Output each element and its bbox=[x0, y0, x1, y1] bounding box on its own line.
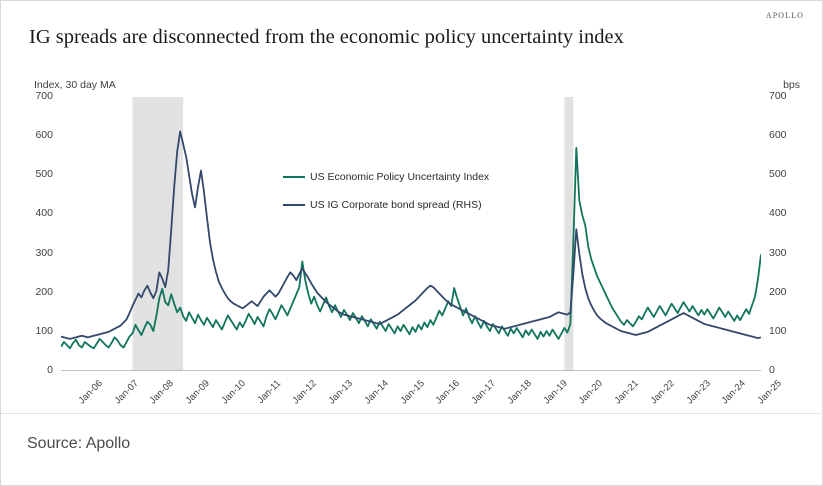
chart-legend: US Economic Policy Uncertainty Index US … bbox=[283, 171, 489, 227]
plot-area bbox=[61, 97, 761, 371]
x-tick-label: Jan-15 bbox=[398, 378, 426, 406]
x-tick-label: Jan-10 bbox=[219, 378, 247, 406]
apollo-logo: APOLLO bbox=[766, 11, 804, 20]
y-tick-label-right: 600 bbox=[769, 129, 803, 141]
y-tick-label-left: 700 bbox=[19, 90, 53, 102]
legend-swatch-ig-spread bbox=[283, 204, 305, 207]
recession-band bbox=[132, 97, 183, 371]
x-tick-label: Jan-24 bbox=[720, 378, 748, 406]
legend-item-epu: US Economic Policy Uncertainty Index bbox=[283, 171, 489, 183]
y-tick-label-left: 600 bbox=[19, 129, 53, 141]
x-tick-label: Jan-09 bbox=[184, 378, 212, 406]
chart-canvas bbox=[61, 97, 761, 371]
legend-item-ig-spread: US IG Corporate bond spread (RHS) bbox=[283, 199, 489, 211]
y-tick-label-left: 0 bbox=[19, 364, 53, 376]
y-tick-label-right: 300 bbox=[769, 247, 803, 259]
y-tick-label-left: 200 bbox=[19, 286, 53, 298]
x-tick-label: Jan-14 bbox=[362, 378, 390, 406]
y-tick-label-left: 300 bbox=[19, 247, 53, 259]
chart-figure: APOLLO IG spreads are disconnected from … bbox=[0, 0, 823, 486]
x-tick-label: Jan-23 bbox=[684, 378, 712, 406]
legend-label-ig-spread: US IG Corporate bond spread (RHS) bbox=[310, 199, 482, 211]
x-tick-label: Jan-16 bbox=[434, 378, 462, 406]
x-tick-label: Jan-12 bbox=[291, 378, 319, 406]
y-tick-label-right: 100 bbox=[769, 325, 803, 337]
footer-divider bbox=[1, 413, 823, 414]
x-tick-label: Jan-11 bbox=[255, 378, 283, 406]
y-tick-label-left: 100 bbox=[19, 325, 53, 337]
x-tick-label: Jan-13 bbox=[327, 378, 355, 406]
x-tick-label: Jan-22 bbox=[648, 378, 676, 406]
legend-swatch-epu bbox=[283, 176, 305, 179]
x-tick-label: Jan-18 bbox=[505, 378, 533, 406]
y-tick-label-right: 0 bbox=[769, 364, 803, 376]
chart-title: IG spreads are disconnected from the eco… bbox=[29, 26, 624, 49]
x-tick-label: Jan-21 bbox=[613, 378, 641, 406]
y-tick-label-right: 400 bbox=[769, 207, 803, 219]
x-tick-label: Jan-20 bbox=[577, 378, 605, 406]
x-tick-label: Jan-06 bbox=[77, 378, 105, 406]
x-tick-label: Jan-17 bbox=[470, 378, 498, 406]
y-tick-label-left: 400 bbox=[19, 207, 53, 219]
x-tick-label: Jan-25 bbox=[756, 378, 784, 406]
y-tick-label-right: 700 bbox=[769, 90, 803, 102]
x-tick-label: Jan-19 bbox=[541, 378, 569, 406]
y-tick-label-right: 200 bbox=[769, 286, 803, 298]
x-tick-label: Jan-07 bbox=[112, 378, 140, 406]
x-tick-label: Jan-08 bbox=[148, 378, 176, 406]
legend-label-epu: US Economic Policy Uncertainty Index bbox=[310, 171, 489, 183]
y-tick-label-left: 500 bbox=[19, 168, 53, 180]
source-note: Source: Apollo bbox=[27, 435, 130, 453]
y-tick-label-right: 500 bbox=[769, 168, 803, 180]
